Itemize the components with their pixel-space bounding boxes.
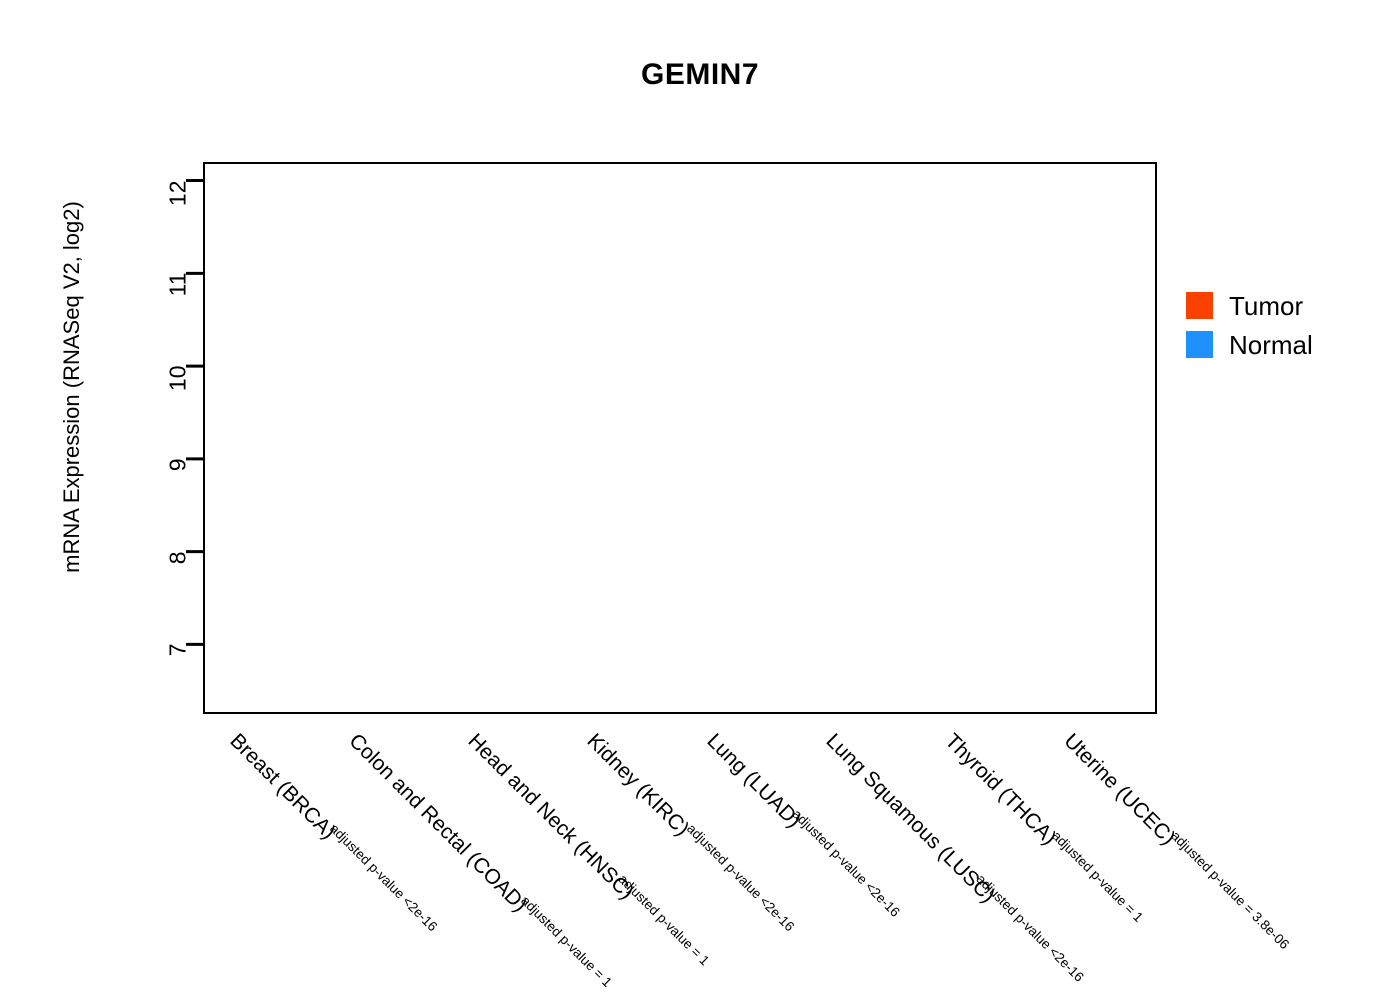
legend-item-tumor[interactable]: Tumor	[1186, 292, 1386, 319]
chart-canvas: GEMIN7 mRNA Expression (RNASeq V2, log2)…	[0, 0, 1400, 1000]
legend-label-tumor: Tumor	[1229, 293, 1303, 319]
y-tick-label: 12	[165, 180, 192, 255]
y-tick-label: 8	[165, 551, 192, 626]
y-tick-label: 11	[165, 273, 192, 348]
y-tick-label: 9	[165, 458, 192, 533]
y-axis-label: mRNA Expression (RNASeq V2, log2)	[59, 107, 85, 667]
legend-label-normal: Normal	[1229, 332, 1313, 358]
legend-swatch-normal	[1186, 331, 1213, 358]
plot-frame	[203, 162, 1157, 714]
y-tick-label: 7	[165, 644, 192, 719]
legend: Tumor Normal	[1186, 292, 1386, 370]
y-tick-label: 10	[165, 366, 192, 441]
legend-swatch-tumor	[1186, 292, 1213, 319]
legend-item-normal[interactable]: Normal	[1186, 331, 1386, 358]
